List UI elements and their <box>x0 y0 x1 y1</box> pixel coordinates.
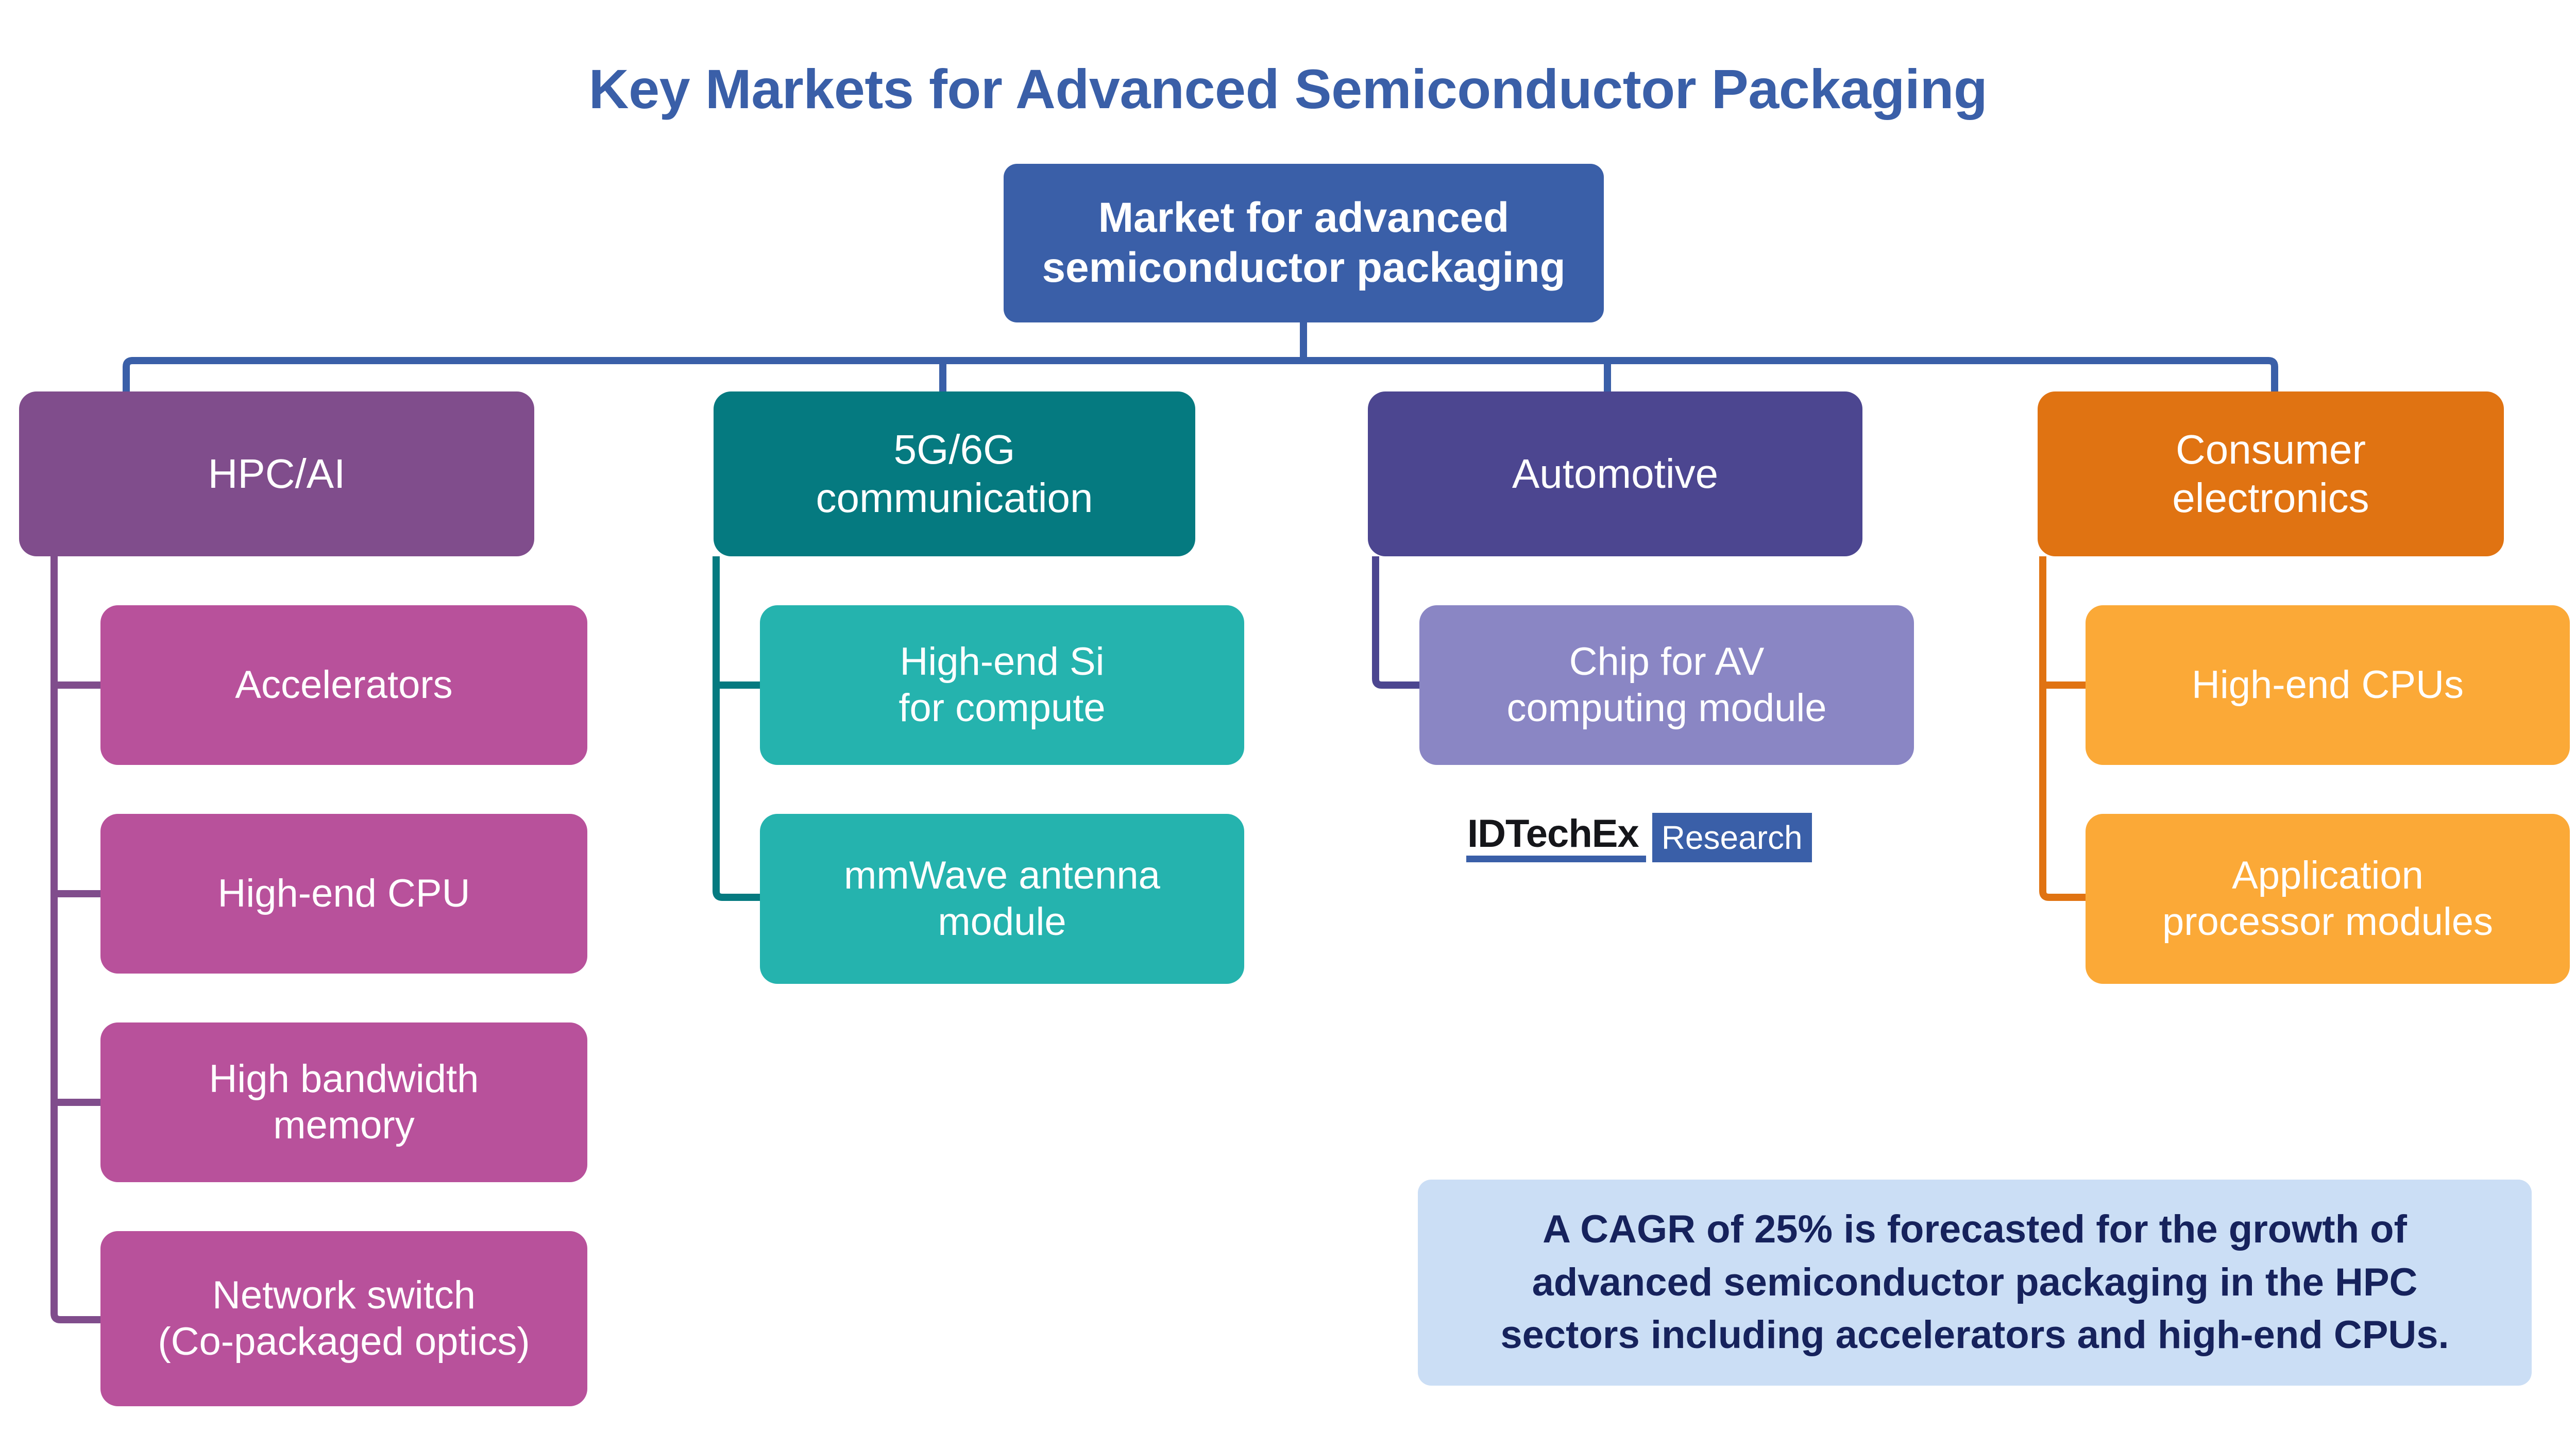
diagram-canvas: Key Markets for Advanced Semiconductor P… <box>0 0 2576 1449</box>
node-leaf-high-end-cpu[interactable]: High-end CPU <box>100 814 587 974</box>
node-leaf-high-end-cpus[interactable]: High-end CPUs <box>2086 605 2570 765</box>
node-leaf-high-bandwidth-memory[interactable]: High bandwidth memory <box>100 1022 587 1182</box>
node-leaf-application-processor-modules[interactable]: Application processor modules <box>2086 814 2570 984</box>
connector-bus <box>126 361 2275 391</box>
node-leaf-network-switch[interactable]: Network switch (Co-packaged optics) <box>100 1231 587 1406</box>
idtechex-research-badge: Research <box>1652 813 1812 862</box>
node-branch-consumer-electronics[interactable]: Consumer electronics <box>2038 391 2504 556</box>
connector-spine-automotive <box>1376 556 1419 685</box>
node-root[interactable]: Market for advanced semiconductor packag… <box>1004 164 1604 322</box>
node-branch-5g-6g[interactable]: 5G/6G communication <box>714 391 1195 556</box>
node-leaf-high-end-si[interactable]: High-end Si for compute <box>760 605 1244 765</box>
idtechex-wordmark: IDTechEx <box>1466 813 1646 862</box>
callout-box: A CAGR of 25% is forecasted for the grow… <box>1418 1180 2532 1386</box>
idtechex-research-logo: IDTechEx Research <box>1466 813 1812 862</box>
node-leaf-mmwave-antenna-module[interactable]: mmWave antenna module <box>760 814 1244 984</box>
connector-spine-5g <box>716 556 760 897</box>
node-leaf-chip-for-av-computing-module[interactable]: Chip for AV computing module <box>1419 605 1914 765</box>
connector-spine-hpc-ai <box>54 556 100 1320</box>
node-branch-automotive[interactable]: Automotive <box>1368 391 1862 556</box>
node-leaf-accelerators[interactable]: Accelerators <box>100 605 587 765</box>
node-branch-hpc-ai[interactable]: HPC/AI <box>19 391 534 556</box>
callout-text: A CAGR of 25% is forecasted for the grow… <box>1500 1203 2449 1362</box>
connector-spine-consumer <box>2043 556 2086 897</box>
